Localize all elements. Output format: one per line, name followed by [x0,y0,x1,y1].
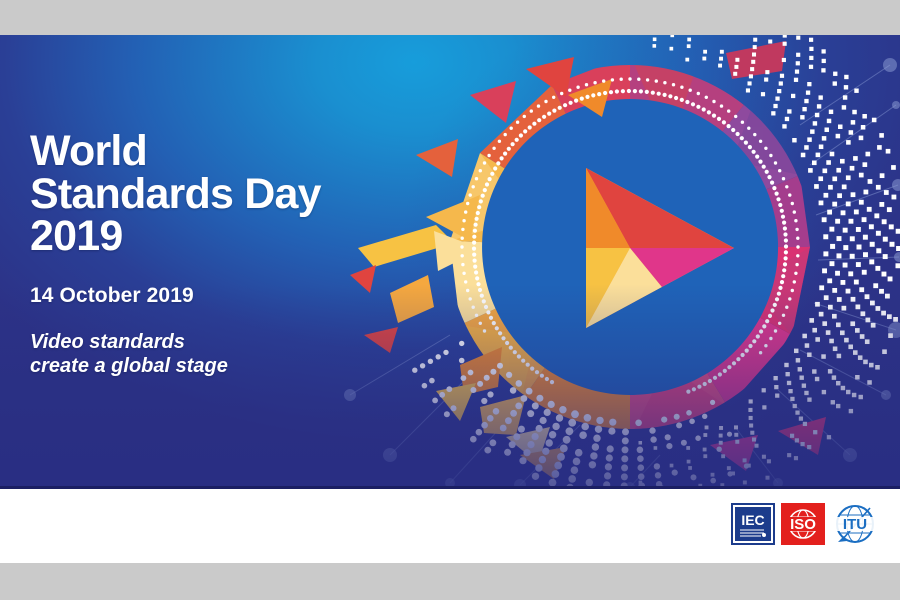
tagline-line-1: Video standards [30,330,321,354]
itu-logo-mark: ITU [832,502,878,546]
banner-copy: World Standards Day 2019 14 October 2019… [30,130,321,378]
headline-line-3: 2019 [30,215,321,258]
video-play-artwork [330,35,900,488]
tagline-line-2: create a global stage [30,354,321,378]
world-standards-day-banner: World Standards Day 2019 14 October 2019… [0,35,900,488]
page-root: World Standards Day 2019 14 October 2019… [0,0,900,600]
standards-org-logos: IEC ISO [731,501,879,547]
page-title: World Standards Day 2019 [30,130,321,258]
iso-logo-mark: ISO [783,505,823,543]
bottom-gray-frame [0,563,900,600]
headline-line-1: World [30,130,321,173]
event-date: 14 October 2019 [30,284,321,308]
iec-logo[interactable]: IEC [731,503,775,545]
iso-logo[interactable]: ISO [781,503,825,545]
iec-logo-mark: IEC [733,505,773,543]
iec-logo-text: IEC [741,512,764,528]
itu-logo-text: ITU [843,516,867,533]
top-gray-frame [0,0,900,35]
itu-logo[interactable]: ITU [831,501,879,547]
headline-line-2: Standards Day [30,173,321,216]
iso-logo-text: ISO [790,516,816,533]
event-tagline: Video standards create a global stage [30,330,321,379]
artwork-svg [330,35,900,488]
